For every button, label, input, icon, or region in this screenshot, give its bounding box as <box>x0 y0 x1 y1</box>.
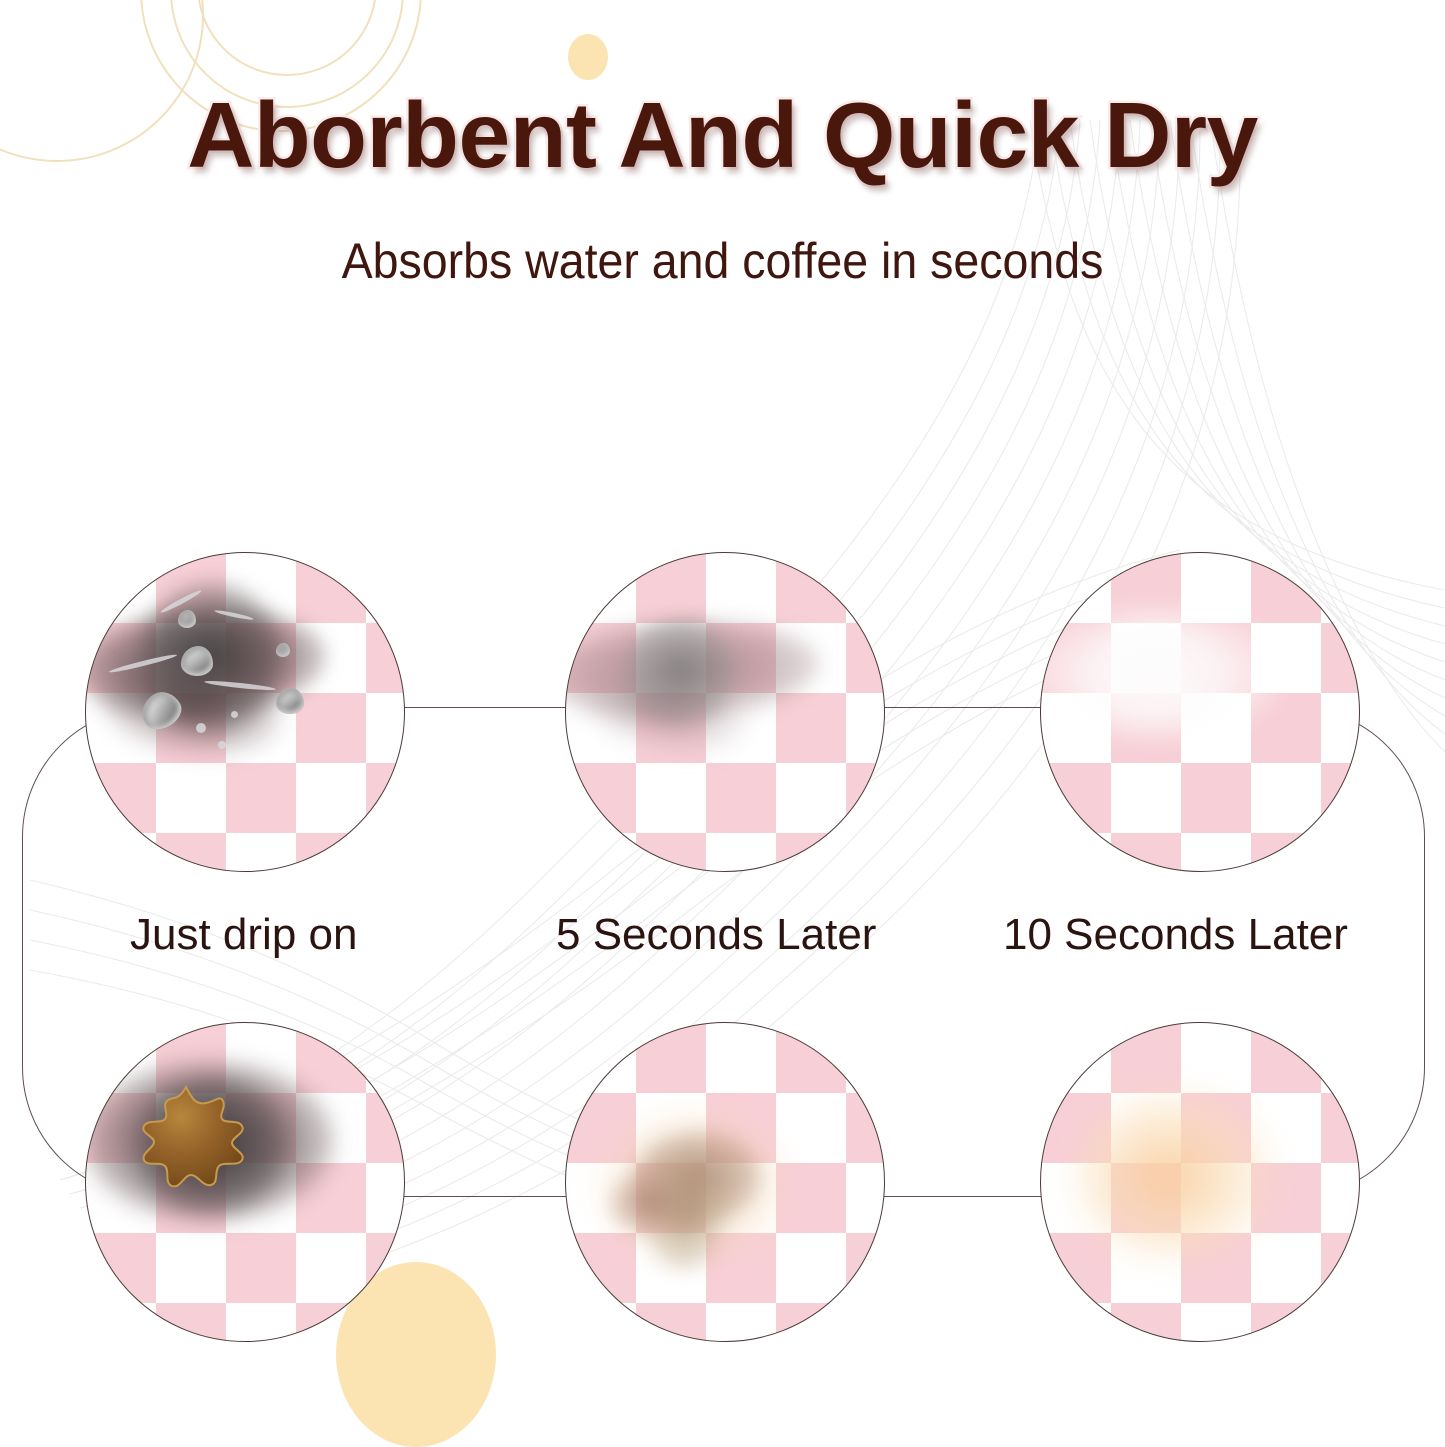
dry-haze-inner <box>1076 623 1236 728</box>
coffee-stage-1-just-drip-on <box>85 1022 405 1342</box>
coffee-stain-left <box>608 1173 683 1235</box>
fading-wet-patch-icon <box>565 552 885 872</box>
decorative-ring-3-icon <box>197 0 377 76</box>
water-speck <box>196 723 206 733</box>
faint-coffee-residue-icon <box>1040 1022 1360 1342</box>
water-droplet <box>181 646 213 676</box>
page-subtitle: Absorbs water and coffee in seconds <box>51 232 1395 290</box>
water-droplet <box>178 610 196 628</box>
caption-5-seconds-later: 5 Seconds Later <box>556 910 876 960</box>
wet-patch-core <box>626 618 736 723</box>
coffee-splash-blob-icon <box>85 1022 405 1342</box>
connector-line-bottom-right <box>862 1196 1057 1197</box>
caption-10-seconds-later: 10 Seconds Later <box>1003 910 1348 960</box>
water-droplet <box>276 688 304 714</box>
water-stage-1-just-drip-on <box>85 552 405 872</box>
water-speck <box>218 741 226 749</box>
water-stage-2-5-seconds <box>565 552 885 872</box>
water-droplet <box>276 643 290 657</box>
caption-just-drip-on: Just drip on <box>130 910 357 960</box>
dry-fabric-icon <box>1040 552 1360 872</box>
beige-dot-top-icon <box>568 34 608 80</box>
water-stage-3-10-seconds <box>1040 552 1360 872</box>
connector-line-top-left <box>385 707 585 708</box>
water-droplets-on-fabric-icon <box>85 552 405 872</box>
coffee-residue-inner <box>1096 1118 1236 1238</box>
coffee-stage-2-5-seconds <box>565 1022 885 1342</box>
water-speck <box>231 711 238 718</box>
page-title: Aborbent And Quick Dry <box>0 82 1445 189</box>
infographic-canvas: Aborbent And Quick Dry Absorbs water and… <box>0 0 1445 1441</box>
connector-line-top-right <box>862 707 1057 708</box>
coffee-stage-3-10-seconds <box>1040 1022 1360 1342</box>
connector-line-bottom-left <box>385 1196 585 1197</box>
fading-coffee-stain-icon <box>565 1022 885 1342</box>
